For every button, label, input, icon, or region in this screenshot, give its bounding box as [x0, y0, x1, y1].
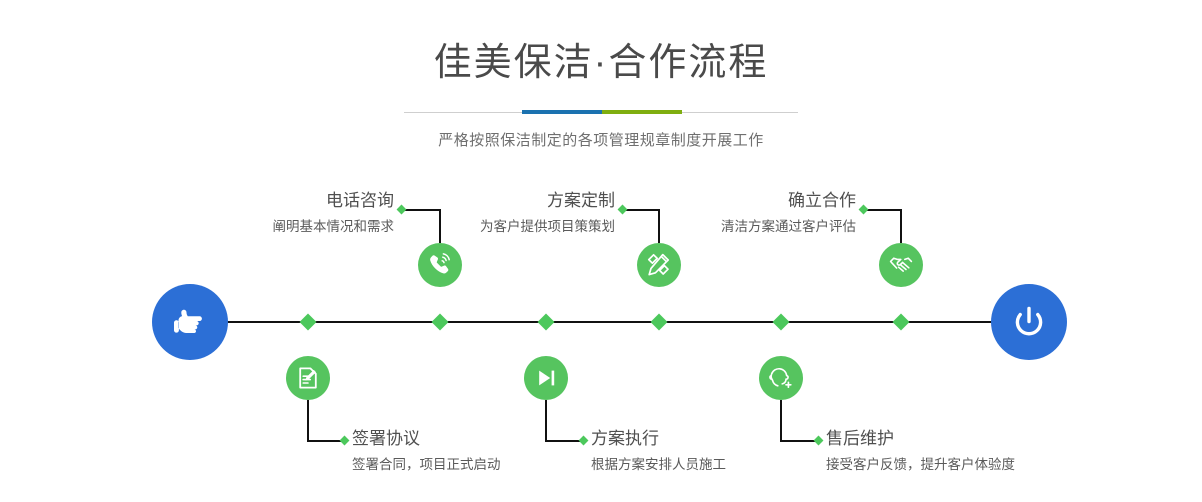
- step-desc-4: 根据方案安排人员施工: [591, 458, 851, 472]
- play-execute-icon: [533, 365, 559, 391]
- document-sign-icon: [295, 365, 321, 391]
- connector-vertical-4: [545, 400, 547, 441]
- step-title-4: 方案执行: [591, 430, 851, 447]
- axis-marker-2: [300, 314, 317, 331]
- connector-vertical-6: [780, 400, 782, 441]
- step-title-2: 签署协议: [352, 430, 612, 447]
- axis-marker-6: [773, 314, 790, 331]
- header: 佳美保洁·合作流程 严格按照保洁制定的各项管理规章制度开展工作: [0, 0, 1202, 150]
- divider-green-segment: [602, 110, 682, 114]
- step-node-4[interactable]: [524, 356, 568, 400]
- step-label-4: 方案执行 根据方案安排人员施工: [591, 430, 851, 472]
- axis-marker-5: [893, 314, 910, 331]
- page-title: 佳美保洁·合作流程: [0, 44, 1202, 82]
- step-label-5: 确立合作 清洁方案通过客户评估: [620, 192, 856, 234]
- step-desc-1: 阐明基本情况和需求: [150, 220, 394, 234]
- timeline-end-badge: [991, 284, 1067, 360]
- step-node-6[interactable]: [759, 356, 803, 400]
- title-divider: [404, 108, 798, 116]
- step-node-2[interactable]: [286, 356, 330, 400]
- connector-dot-5: [859, 205, 869, 215]
- axis-marker-4: [538, 314, 555, 331]
- step-label-3: 方案定制 为客户提供项目策策划: [380, 192, 615, 234]
- connector-vertical-2: [307, 400, 309, 441]
- axis-marker-1: [432, 314, 449, 331]
- connector-horizontal-6: [780, 440, 818, 442]
- process-flow-infographic: 佳美保洁·合作流程 严格按照保洁制定的各项管理规章制度开展工作: [0, 0, 1202, 502]
- step-title-6: 售后维护: [826, 430, 1106, 447]
- step-node-1[interactable]: [418, 243, 462, 287]
- step-desc-6: 接受客户反馈，提升客户体验度: [826, 458, 1106, 472]
- step-title-3: 方案定制: [380, 192, 615, 209]
- step-label-2: 签署协议 签署合同，项目正式启动: [352, 430, 612, 472]
- page-subtitle: 严格按照保洁制定的各项管理规章制度开展工作: [0, 129, 1202, 150]
- connector-horizontal-4: [545, 440, 583, 442]
- connector-vertical-5: [900, 210, 902, 243]
- headset-support-icon: [768, 365, 794, 391]
- handshake-icon: [888, 252, 914, 278]
- timeline-start-badge: [152, 284, 228, 360]
- step-node-5[interactable]: [879, 243, 923, 287]
- power-icon: [1007, 300, 1051, 344]
- step-node-3[interactable]: [637, 243, 681, 287]
- step-label-1: 电话咨询 阐明基本情况和需求: [150, 192, 394, 234]
- step-desc-3: 为客户提供项目策策划: [380, 220, 615, 234]
- phone-call-icon: [427, 252, 453, 278]
- step-desc-2: 签署合同，项目正式启动: [352, 458, 612, 472]
- step-title-5: 确立合作: [620, 192, 856, 209]
- hand-point-icon: [168, 300, 212, 344]
- step-label-6: 售后维护 接受客户反馈，提升客户体验度: [826, 430, 1106, 472]
- connector-dot-2: [340, 436, 350, 446]
- step-title-1: 电话咨询: [150, 192, 394, 209]
- connector-horizontal-5: [866, 209, 902, 211]
- step-desc-5: 清洁方案通过客户评估: [620, 220, 856, 234]
- pencil-ruler-icon: [646, 252, 672, 278]
- axis-marker-3: [651, 314, 668, 331]
- divider-blue-segment: [522, 110, 602, 114]
